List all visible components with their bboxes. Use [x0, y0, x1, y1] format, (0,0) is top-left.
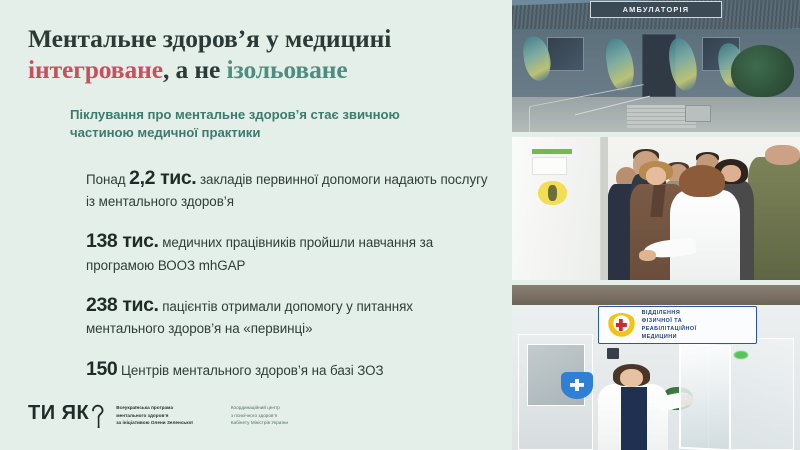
headline-word-integrated: інтегроване — [28, 55, 163, 84]
stat-line: Понад 2,2 тис. закладів первинної допомо… — [86, 164, 494, 212]
logo-caption-program: Всеукраїнська програма ментального здоро… — [116, 404, 193, 426]
stat-number: 2,2 тис. — [129, 167, 196, 189]
stat-line: 150 Центрів ментального здоров’я на базі… — [86, 355, 494, 383]
list-item: 150 Центрів ментального здоров’я на базі… — [86, 355, 494, 383]
medical-cross-emblem-icon — [606, 313, 637, 338]
footer-logos: ТИ ЯК Всеукраїнська програма ментального… — [28, 403, 288, 428]
stat-line: 138 тис. медичних працівників пройшли на… — [86, 227, 494, 275]
clinic-building-sign: АМБУЛАТОРІЯ — [590, 1, 722, 18]
headline-line-1: Ментальне здоров’я у медицині — [28, 24, 391, 53]
list-item: 238 тис. пацієнтів отримали допомогу у п… — [86, 291, 494, 339]
rehab-department-sign: ВІДДІЛЕННЯ ФІЗИЧНОЇ ТА РЕАБІЛІТАЦІЙНОЇ М… — [598, 306, 756, 344]
stat-text: Центрів ментального здоров’я на базі ЗОЗ — [117, 363, 383, 378]
statistics-list: Понад 2,2 тис. закладів первинної допомо… — [86, 164, 494, 383]
subtitle: Піклування про ментальне здоров’я стає з… — [70, 106, 460, 141]
photo-ambulatory-clinic: АМБУЛАТОРІЯ — [512, 0, 800, 132]
content-column: Ментальне здоров’я у медицині інтегрован… — [0, 0, 512, 450]
stat-line: 238 тис. пацієнтів отримали допомогу у п… — [86, 291, 494, 339]
stat-number: 238 тис. — [86, 294, 159, 316]
stat-prefix: Понад — [86, 172, 129, 187]
photo-stack: АМБУЛАТОРІЯ — [512, 0, 800, 450]
headline-word-isolated: ізольоване — [227, 55, 348, 84]
list-item: Понад 2,2 тис. закладів первинної допомо… — [86, 164, 494, 212]
logo-ty-yak: ТИ ЯК — [28, 403, 106, 428]
shield-cross-icon — [561, 372, 593, 398]
page-title: Ментальне здоров’я у медицині інтегрован… — [28, 24, 494, 84]
clinic-sign-text: АМБУЛАТОРІЯ — [623, 5, 690, 14]
logo-caption-coordination-center: Координаційний центр з психічного здоров… — [231, 404, 288, 426]
infographic-slide: Ментальне здоров’я у медицині інтегрован… — [0, 0, 800, 450]
list-item: 138 тис. медичних працівників пройшли на… — [86, 227, 494, 275]
headline-line-2: інтегроване, а не ізольоване — [28, 55, 494, 85]
headline-connector: , а не — [163, 55, 227, 84]
stat-number: 150 — [86, 358, 117, 380]
rehab-sign-text: ВІДДІЛЕННЯ ФІЗИЧНОЇ ТА РЕАБІЛІТАЦІЙНОЇ М… — [637, 309, 756, 341]
logo-wordmark: ТИ ЯК — [28, 403, 89, 423]
photo-clinic-visit-group — [512, 137, 800, 280]
question-mark-umbrella-icon — [90, 403, 106, 428]
photo-rehab-department: ВІДДІЛЕННЯ ФІЗИЧНОЇ ТА РЕАБІЛІТАЦІЙНОЇ М… — [512, 285, 800, 450]
stat-number: 138 тис. — [86, 230, 159, 252]
